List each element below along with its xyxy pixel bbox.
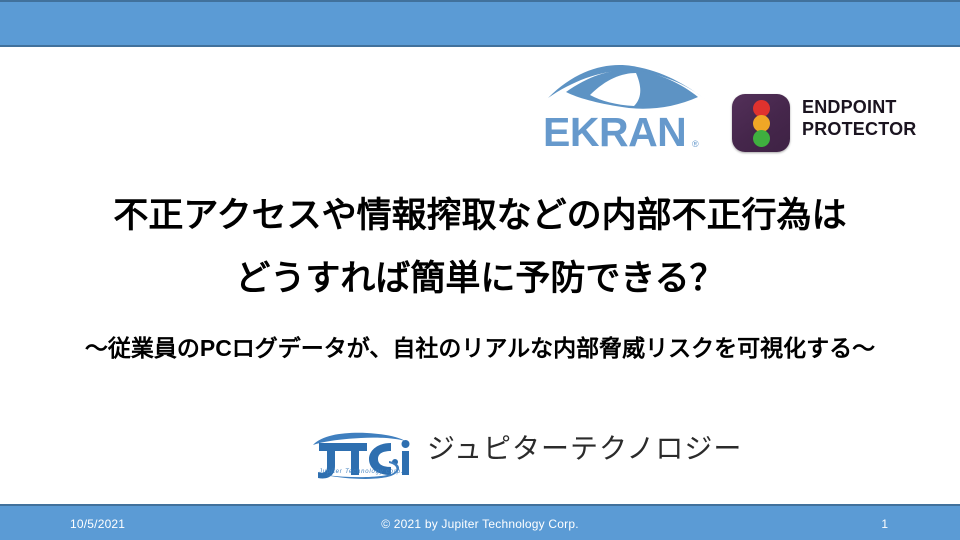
slide-title-line-1: 不正アクセスや情報搾取などの内部不正行為は bbox=[0, 198, 960, 233]
ekran-logo: EKRAN ® bbox=[540, 62, 720, 164]
presentation-slide: EKRAN ® ENDPOINT PROTECTOR 不正アクセスや情報搾取など… bbox=[0, 0, 960, 540]
traffic-light-icon bbox=[732, 94, 790, 152]
slide-footer-band: 10/5/2021 © 2021 by Jupiter Technology C… bbox=[0, 504, 960, 540]
footer-copyright: © 2021 by Jupiter Technology Corp. bbox=[0, 517, 960, 531]
ekran-eye-icon bbox=[546, 64, 708, 114]
jupiter-tagline: Jupiter Technology corp. bbox=[319, 469, 403, 475]
jupiter-technology-logo: Jupiter Technology corp. ジュピターテクノロジー bbox=[305, 431, 660, 483]
slide-title: 不正アクセスや情報搾取などの内部不正行為は どうすれば簡単に予防できる？ bbox=[0, 198, 960, 296]
endpoint-protector-line1: ENDPOINT bbox=[802, 97, 897, 117]
endpoint-protector-wordmark: ENDPOINT PROTECTOR bbox=[802, 97, 916, 141]
slide-title-line-2: どうすれば簡単に予防できる？ bbox=[0, 261, 960, 296]
partner-logo-row: EKRAN ® ENDPOINT PROTECTOR bbox=[540, 62, 952, 167]
jupiter-kana-name: ジュピターテクノロジー bbox=[427, 435, 742, 463]
slide-top-band bbox=[0, 0, 960, 47]
slide-subtitle: 〜従業員のPCログデータが、自社のリアルな内部脅威リスクを可視化する〜 bbox=[0, 336, 960, 361]
footer-page-number: 1 bbox=[881, 517, 888, 531]
ekran-registered-icon: ® bbox=[692, 140, 699, 149]
endpoint-protector-logo: ENDPOINT PROTECTOR bbox=[732, 94, 952, 164]
ekran-wordmark: EKRAN bbox=[543, 112, 686, 153]
traffic-light-green bbox=[753, 130, 770, 147]
endpoint-protector-line2: PROTECTOR bbox=[802, 119, 916, 139]
